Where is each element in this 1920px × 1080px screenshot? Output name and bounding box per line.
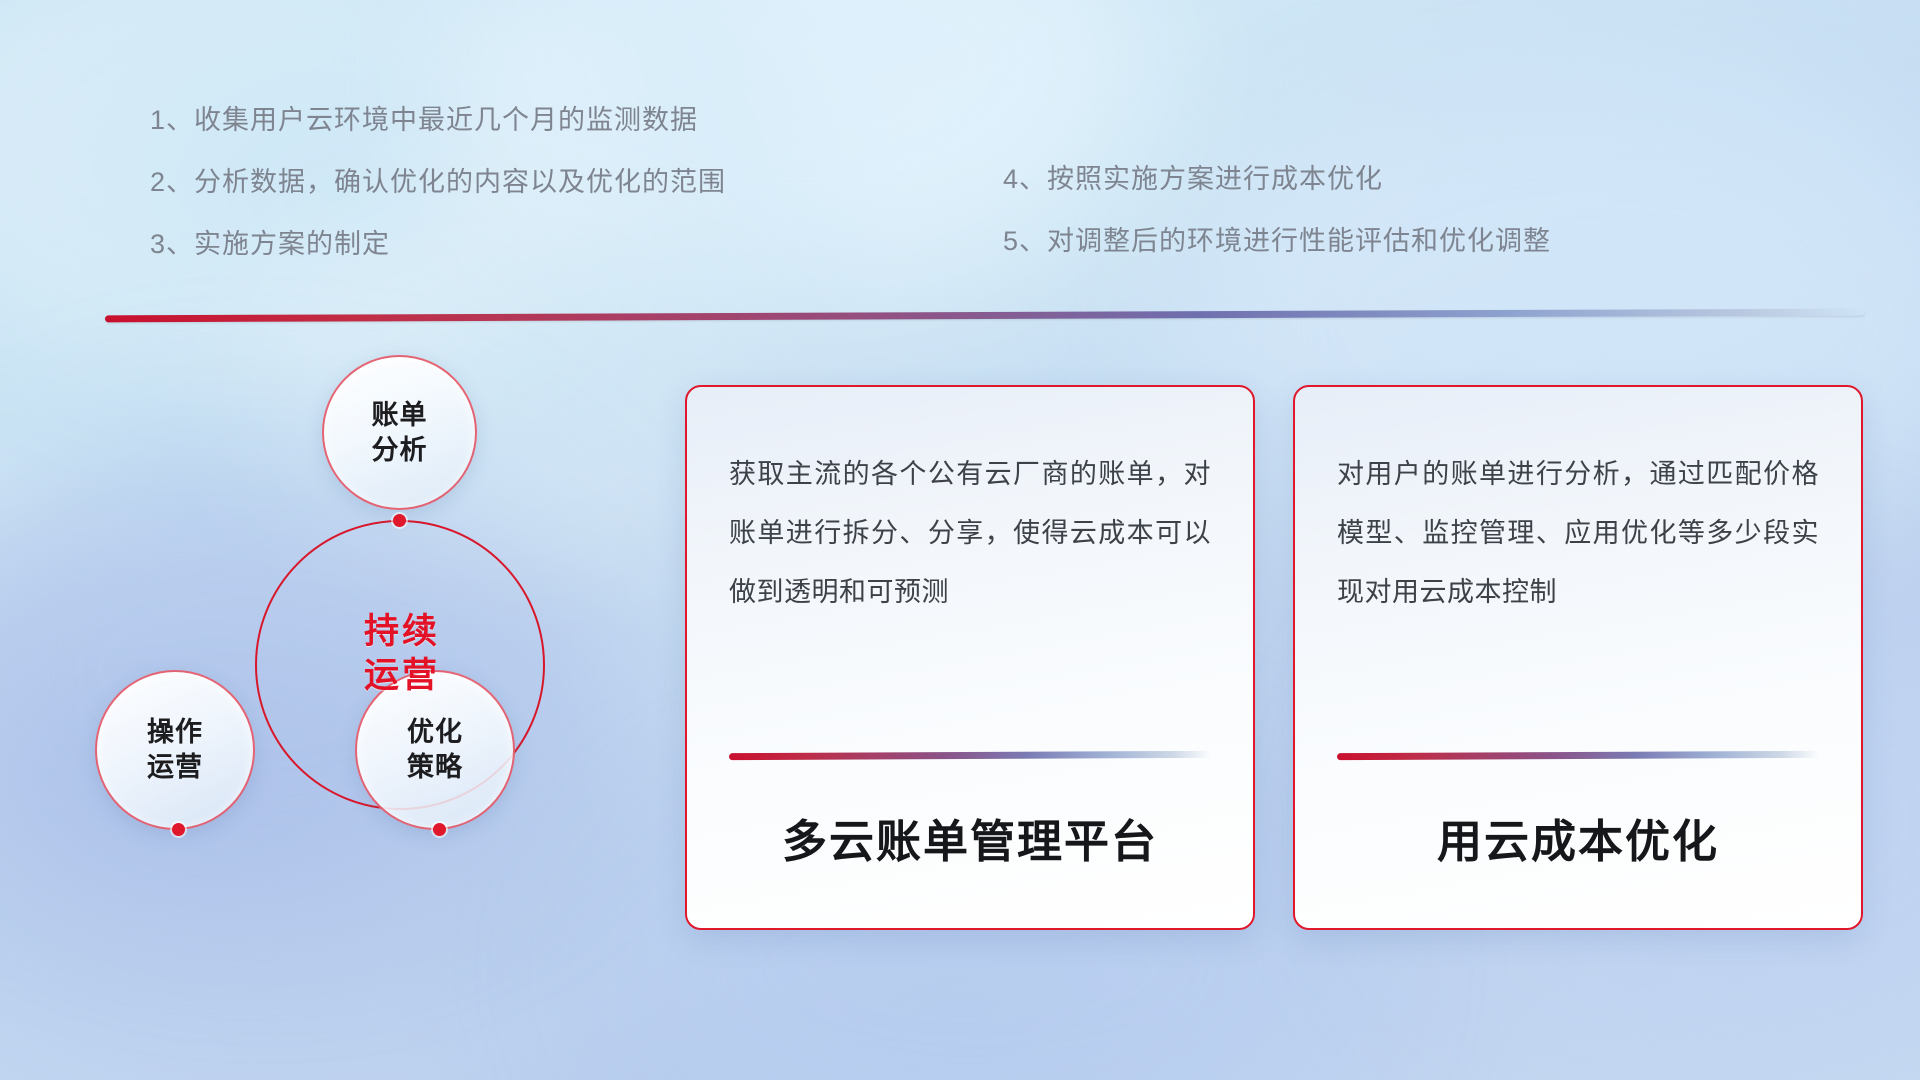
venn-node-label-line2: 运营 [147,750,203,785]
section-divider [105,309,1865,323]
card-title: 多云账单管理平台 [729,759,1211,928]
venn-center-line2: 运营 [277,654,527,698]
bullet-item: 3、实施方案的制定 [150,222,726,261]
venn-node-bill-analysis[interactable]: 账单 分析 [322,355,477,510]
card-body-text: 对用户的账单进行分析，通过匹配价格模型、监控管理、应用优化等多少段实现对用云成本… [1337,445,1819,622]
bullet-item: 5、对调整后的环境进行性能评估和优化调整 [1003,219,1551,258]
venn-node-label-line2: 策略 [407,750,463,785]
bullet-list-right: 4、按照实施方案进行成本优化 5、对调整后的环境进行性能评估和优化调整 [1003,157,1551,281]
bullet-item: 4、按照实施方案进行成本优化 [1003,157,1551,196]
slide-canvas: 1、收集用户云环境中最近几个月的监测数据 2、分析数据，确认优化的内容以及优化的… [0,0,1920,1080]
venn-center-line1: 持续 [277,610,527,654]
bullet-item: 2、分析数据，确认优化的内容以及优化的范围 [150,160,726,199]
card-title: 用云成本优化 [1337,759,1819,928]
card-body-text: 获取主流的各个公有云厂商的账单，对账单进行拆分、分享，使得云成本可以做到透明和可… [729,445,1211,622]
venn-node-label-line1: 操作 [147,715,203,750]
venn-node-operations[interactable]: 操作 运营 [95,670,255,830]
venn-diagram: 账单 分析 操作 运营 优化 策略 持续 运营 [95,355,575,925]
bullet-list-left: 1、收集用户云环境中最近几个月的监测数据 2、分析数据，确认优化的内容以及优化的… [150,98,726,284]
venn-node-label-line1: 账单 [372,398,428,433]
venn-center-label: 持续 运营 [277,610,527,698]
venn-connector-dot [172,823,185,836]
venn-connector-dot [433,823,446,836]
venn-node-label-line2: 分析 [372,433,428,468]
venn-node-label-line1: 优化 [407,715,463,750]
bullet-item: 1、收集用户云环境中最近几个月的监测数据 [150,98,726,137]
venn-connector-dot [393,514,406,527]
feature-card-multicloud-billing[interactable]: 获取主流的各个公有云厂商的账单，对账单进行拆分、分享，使得云成本可以做到透明和可… [685,385,1255,930]
feature-card-cost-optimization[interactable]: 对用户的账单进行分析，通过匹配价格模型、监控管理、应用优化等多少段实现对用云成本… [1293,385,1863,930]
